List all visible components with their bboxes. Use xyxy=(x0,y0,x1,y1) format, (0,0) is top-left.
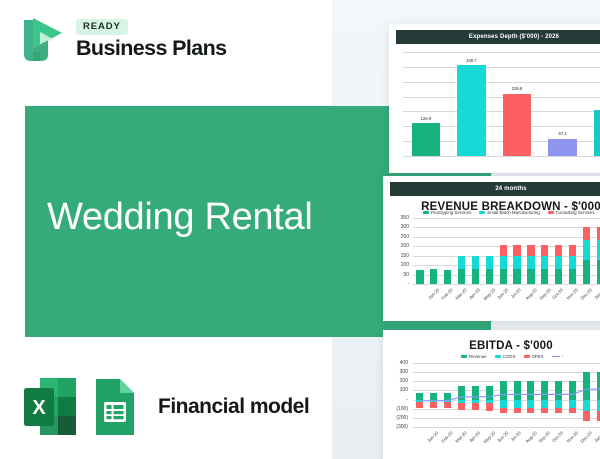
chart-xtick-label: Aug-20 xyxy=(525,431,538,444)
chart-ytick-label: 300 xyxy=(383,370,408,375)
chart-card-revenue-breakdown[interactable]: 24 months REVENUE BREAKDOWN - $'000 Prot… xyxy=(383,176,600,321)
chart-xtick-label: May-20 xyxy=(483,431,496,444)
brand-lockup: READY Business Plans xyxy=(20,14,227,64)
chart-bar-segment xyxy=(527,256,534,269)
microsoft-excel-icon: X xyxy=(22,376,78,438)
chart-bar-value-label: 239.8 xyxy=(503,87,531,91)
chart-bar xyxy=(503,94,531,156)
chart-bar-segment xyxy=(513,256,520,269)
chart-legend-item: COGS xyxy=(495,354,516,359)
chart-bar-segment xyxy=(416,402,423,408)
chart-bar-segment xyxy=(500,400,507,408)
chart-ytick-label: 50 xyxy=(385,273,409,278)
chart-bar-segment xyxy=(486,386,493,400)
legend-label: Revenue xyxy=(469,354,487,359)
chart-gridline xyxy=(413,363,600,364)
chart-ytick-label: 100 xyxy=(383,388,408,393)
chart-bar-segment xyxy=(472,386,479,400)
chart-xtick-label: Apr-20 xyxy=(469,288,481,300)
chart-bar-segment xyxy=(555,381,562,400)
ready-badge: READY xyxy=(76,19,128,35)
chart-ytick-label: 200 xyxy=(385,244,409,249)
chart-xaxis-revenue: Jan-20Feb-20Mar-20Apr-20May-20Jun-20Jul-… xyxy=(413,286,600,316)
chart-xtick-label: Sep-20 xyxy=(539,431,552,444)
chart-bar-segment xyxy=(444,393,451,400)
chart-bar-segment xyxy=(500,256,507,269)
legend-swatch xyxy=(524,355,530,358)
chart-xaxis-ebitda: Jan-20Feb-20Mar-20Apr-20May-20Jun-20Jul-… xyxy=(413,429,600,459)
chart-gridline xyxy=(413,218,600,219)
chart-ytick-label: (200) xyxy=(383,416,408,421)
chart-bar-segment xyxy=(583,400,590,411)
chart-gridline xyxy=(403,82,600,83)
chart-bar-segment xyxy=(472,403,479,410)
chart-xtick-label: Jun-20 xyxy=(497,431,510,444)
chart-bar-segment xyxy=(458,269,465,284)
chart-yaxis-revenue: 35030025020015010050- xyxy=(385,218,411,284)
chart-ytick-label: - xyxy=(385,282,409,287)
chart-xtick-label: Dec-20 xyxy=(580,288,593,301)
chart-yaxis-ebitda: 400300200100-(100)(200)(300) xyxy=(383,363,411,427)
page-title: Wedding Rental xyxy=(47,198,313,236)
chart-xtick-label: Mar-20 xyxy=(455,431,468,444)
chart-bar-segment xyxy=(527,269,534,284)
poster-canvas: READY Business Plans Wedding Rental X xyxy=(0,0,600,459)
chart-title-expenses: Expenses Depth ($'000) - 2026 xyxy=(396,30,600,44)
chart-bar-segment xyxy=(472,256,479,269)
chart-card-expenses-depth[interactable]: Expenses Depth ($'000) - 2026 126.9348.7… xyxy=(389,24,600,173)
chart-bar-segment xyxy=(569,400,576,408)
chart-bar-segment xyxy=(416,393,423,400)
chart-bar-segment xyxy=(486,403,493,410)
chart-bar-segment xyxy=(527,245,534,256)
chart-ytick-label: 350 xyxy=(385,216,409,221)
chart-ytick-label: - xyxy=(383,398,408,403)
chart-xtick-label: Aug-20 xyxy=(525,288,538,301)
chart-bar-segment xyxy=(583,240,590,260)
chart-bar-segment xyxy=(555,269,562,284)
chart-bar-segment xyxy=(430,402,437,408)
legend-swatch xyxy=(548,211,554,214)
legend-label: COGS xyxy=(503,354,516,359)
chart-xtick-label: Jan-21 xyxy=(594,431,600,444)
chart-plot-ebitda xyxy=(413,363,600,427)
chart-bar-segment xyxy=(541,381,548,400)
legend-label: OPEX xyxy=(532,354,544,359)
chart-bar-segment xyxy=(514,400,521,408)
google-sheets-icon xyxy=(90,376,142,438)
chart-gridline xyxy=(413,237,600,238)
chart-gridline xyxy=(403,97,600,98)
chart-bar-segment xyxy=(569,256,576,269)
chart-gridline xyxy=(403,67,600,68)
legend-label: Prototyping Services xyxy=(431,210,471,215)
chart-xtick-label: Jul-20 xyxy=(510,288,522,300)
chart-ytick-label: 300 xyxy=(385,225,409,230)
chart-bar-segment xyxy=(416,270,423,284)
brand-name: Business Plans xyxy=(76,38,227,60)
chart-bar-segment xyxy=(555,245,562,256)
chart-bar-segment xyxy=(583,411,590,422)
legend-swatch xyxy=(479,211,485,214)
chart-bar-segment xyxy=(514,408,521,413)
chart-bar-segment xyxy=(486,256,493,269)
chart-legend-item: - xyxy=(552,354,563,359)
chart-bar-segment xyxy=(541,245,548,256)
chart-xtick-label: Oct-20 xyxy=(552,288,564,300)
chart-bar-segment xyxy=(569,408,576,413)
chart-xtick-label: Jan-20 xyxy=(427,431,440,444)
legend-swatch xyxy=(552,356,560,357)
chart-legend-item: Prototyping Services xyxy=(423,210,471,215)
chart-ytick-label: 200 xyxy=(383,379,408,384)
chart-gridline xyxy=(413,284,600,285)
chart-xtick-label: Sep-20 xyxy=(539,288,552,301)
chart-bar-segment xyxy=(541,269,548,284)
chart-bar-segment xyxy=(541,400,548,408)
brand-text: READY Business Plans xyxy=(76,19,227,59)
chart-bar-segment xyxy=(527,408,534,413)
chart-bar xyxy=(548,139,576,156)
chart-bar-value-label: 67.1 xyxy=(548,132,576,136)
chart-xtick-label: Jul-20 xyxy=(510,431,522,443)
chart-bar-segment xyxy=(430,269,437,284)
chart-gridline xyxy=(413,427,600,428)
chart-bar-segment xyxy=(444,270,451,284)
chart-xtick-label: Dec-20 xyxy=(580,431,593,444)
chart-bar-segment xyxy=(486,269,493,284)
chart-bar-value-label: 126.9 xyxy=(412,117,440,121)
chart-ytick-label: 150 xyxy=(385,254,409,259)
chart-gridline xyxy=(413,418,600,419)
chart-bar-segment xyxy=(500,245,507,256)
svg-text:X: X xyxy=(32,397,46,419)
chart-bar-value-label: 348.7 xyxy=(457,59,485,63)
chart-bar-segment xyxy=(555,408,562,413)
chart-ytick-label: (100) xyxy=(383,407,408,412)
chart-bar-segment xyxy=(541,408,548,413)
chart-plot-revenue xyxy=(413,218,600,284)
chart-bar-segment xyxy=(472,269,479,284)
chart-bar-value-label: 176.5 xyxy=(594,104,600,108)
chart-bar-segment xyxy=(444,402,451,408)
footer-label: Financial model xyxy=(158,395,309,419)
legend-label: Small Batch Manufacturing xyxy=(487,210,539,215)
chart-gridline xyxy=(403,52,600,53)
chart-bar-segment xyxy=(541,256,548,269)
legend-swatch xyxy=(461,355,467,358)
chart-xtick-label: May-20 xyxy=(483,288,496,301)
chart-gridline xyxy=(413,227,600,228)
chart-bar-segment xyxy=(555,256,562,269)
chart-bar-segment xyxy=(583,372,590,400)
chart-ytick-label: 250 xyxy=(385,235,409,240)
chart-legend-item: Consulting Services xyxy=(548,210,595,215)
chart-xtick-label: Nov-20 xyxy=(566,288,579,301)
chart-legend-item: OPEX xyxy=(524,354,544,359)
chart-bar-segment xyxy=(500,381,507,400)
chart-plot-expenses: 126.9348.7239.867.1176.5 xyxy=(403,52,600,156)
chart-bar-segment xyxy=(458,256,465,269)
chart-bar-segment xyxy=(569,269,576,284)
chart-xtick-label: Mar-20 xyxy=(455,288,468,301)
legend-swatch xyxy=(495,355,501,358)
chart-legend-ebitda: RevenueCOGSOPEX- xyxy=(461,354,563,359)
chart-xtick-label: Feb-20 xyxy=(441,431,454,444)
chart-bar xyxy=(594,110,600,156)
chart-bar-segment xyxy=(514,381,521,400)
chart-ytick-label: 400 xyxy=(383,361,408,366)
chart-xtick-label: Oct-20 xyxy=(552,431,564,443)
chart-bar-segment xyxy=(513,245,520,256)
chart-gridline xyxy=(413,372,600,373)
footer-formats: X Financial model xyxy=(22,376,309,438)
chart-bar-segment xyxy=(430,393,437,400)
play-triangle-logo-icon xyxy=(20,14,65,64)
chart-gridline xyxy=(403,111,600,112)
chart-subtitle-revenue: 24 months xyxy=(390,182,600,196)
chart-bar-segment xyxy=(500,269,507,284)
chart-legend-revenue: Prototyping ServicesSmall Batch Manufact… xyxy=(423,210,600,215)
chart-bar xyxy=(457,65,485,156)
chart-xtick-label: Jan-21 xyxy=(594,288,600,301)
chart-bar-segment xyxy=(569,381,576,400)
chart-bar-segment xyxy=(583,260,590,284)
chart-xtick-label: Nov-20 xyxy=(566,431,579,444)
chart-legend-item: Revenue xyxy=(461,354,487,359)
chart-ytick-label: 100 xyxy=(385,263,409,268)
chart-title-ebitda: EBITDA - $'000 xyxy=(383,340,600,352)
chart-xtick-label: Feb-20 xyxy=(441,288,454,301)
chart-bar xyxy=(412,123,440,156)
chart-legend-item: Small Batch Manufacturing xyxy=(479,210,539,215)
legend-swatch xyxy=(423,211,429,214)
chart-bar-segment xyxy=(555,400,562,408)
legend-label: Consulting Services xyxy=(556,210,595,215)
legend-label: - xyxy=(562,354,563,359)
chart-bar-segment xyxy=(569,245,576,256)
chart-ytick-label: (300) xyxy=(383,425,408,430)
chart-bar-segment xyxy=(458,386,465,400)
chart-bar-segment xyxy=(513,269,520,284)
chart-bar-segment xyxy=(458,403,465,410)
chart-xtick-label: Jun-20 xyxy=(497,288,510,301)
chart-bar-segment xyxy=(500,408,507,413)
chart-bar-segment xyxy=(527,381,534,400)
chart-card-ebitda[interactable]: EBITDA - $'000 RevenueCOGSOPEX- Jan-20Fe… xyxy=(383,330,600,459)
chart-bar-segment xyxy=(527,400,534,408)
chart-xtick-label: Apr-20 xyxy=(469,431,481,443)
chart-xtick-label: Jan-20 xyxy=(427,288,440,301)
chart-gridline xyxy=(403,156,600,157)
chart-bar-segment xyxy=(583,227,590,240)
